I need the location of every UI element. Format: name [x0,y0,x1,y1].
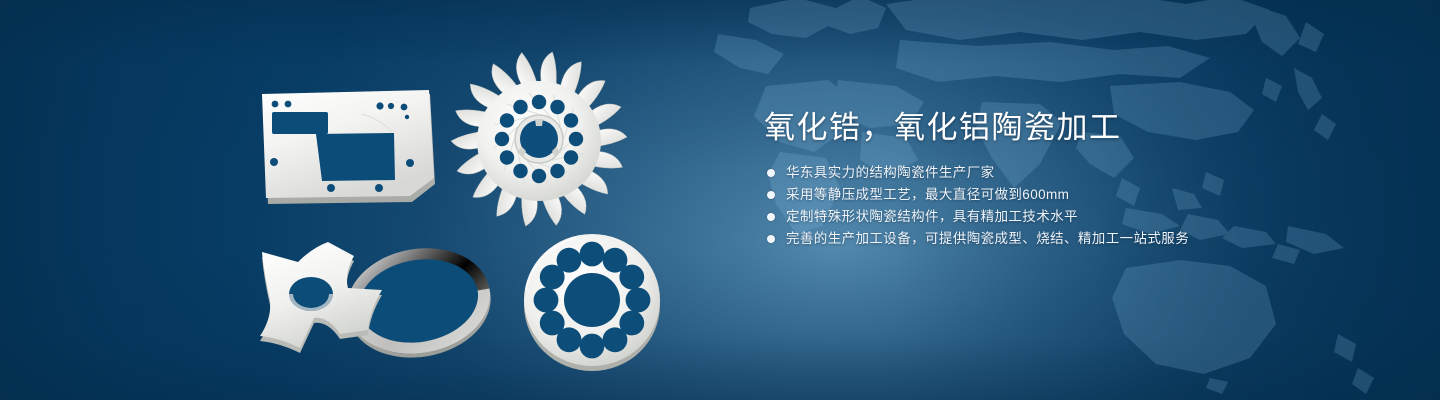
bullet-dot-icon [767,213,775,221]
list-item: 完善的生产加工设备，可提供陶瓷成型、烧结、精加工一站式服务 [764,232,1384,246]
page-title: 氧化锆，氧化铝陶瓷加工 [764,108,1384,148]
copy-block: 氧化锆，氧化铝陶瓷加工 华东具实力的结构陶瓷件生产厂家 采用等静压成型工艺，最大… [764,108,1384,254]
list-item-label: 完善的生产加工设备，可提供陶瓷成型、烧结、精加工一站式服务 [786,231,1189,246]
list-item: 华东具实力的结构陶瓷件生产厂家 [764,166,1384,180]
list-item: 定制特殊形状陶瓷结构件，具有精加工技术水平 [764,210,1384,224]
bullet-dot-icon [767,235,775,243]
bullet-dot-icon [767,191,775,199]
feature-list: 华东具实力的结构陶瓷件生产厂家 采用等静压成型工艺，最大直径可做到600mm 定… [764,166,1384,246]
hero-banner: 氧化锆，氧化铝陶瓷加工 华东具实力的结构陶瓷件生产厂家 采用等静压成型工艺，最大… [0,0,1440,400]
bullet-dot-icon [767,169,775,177]
list-item-label: 华东具实力的结构陶瓷件生产厂家 [786,165,995,180]
list-item: 采用等静压成型工艺，最大直径可做到600mm [764,188,1384,202]
list-item-label: 定制特殊形状陶瓷结构件，具有精加工技术水平 [786,209,1078,224]
list-item-label: 采用等静压成型工艺，最大直径可做到600mm [786,187,1069,202]
